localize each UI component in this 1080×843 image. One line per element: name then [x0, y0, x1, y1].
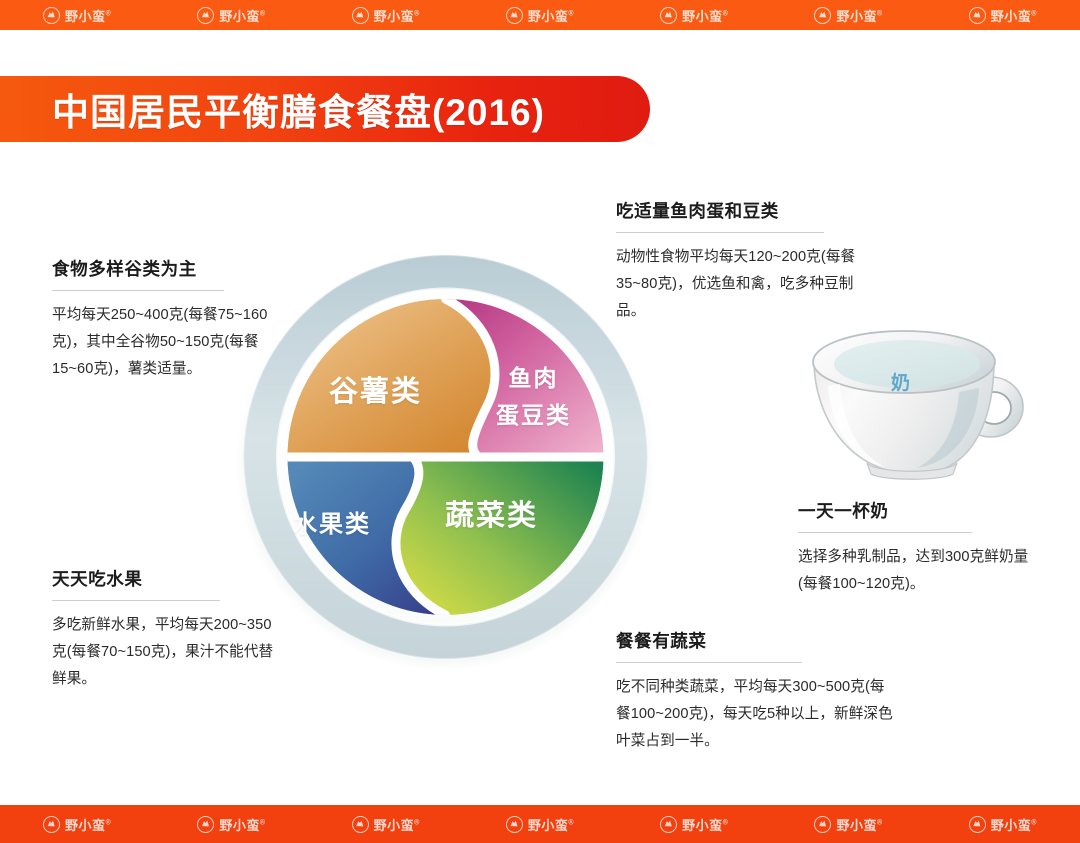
callout-milk-divider [798, 532, 972, 533]
bottom-watermark-bar: 野小蛮®野小蛮®野小蛮®野小蛮®野小蛮®野小蛮®野小蛮® [0, 805, 1080, 843]
callout-grain-divider [52, 290, 224, 291]
brand-logo-icon [352, 816, 369, 833]
cup-milk-surface [834, 340, 980, 388]
watermark-brand-text: 野小蛮® [991, 6, 1037, 25]
callout-milk-heading: 一天一杯奶 [798, 498, 1038, 523]
callout-vegetables-body: 吃不同种类蔬菜，平均每天300~500克(每餐100~200克)，每天吃5种以上… [616, 674, 894, 755]
watermark-item: 野小蛮® [926, 815, 1080, 834]
watermark-brand-text: 野小蛮® [219, 815, 265, 834]
brand-logo-icon [969, 7, 986, 24]
watermark-item: 野小蛮® [309, 815, 463, 834]
watermark-brand-text: 野小蛮® [682, 6, 728, 25]
callout-milk-body: 选择多种乳制品，达到300克鲜奶量(每餐100~120克)。 [798, 544, 1038, 598]
watermark-item: 野小蛮® [0, 815, 154, 834]
watermark-brand-text: 野小蛮® [65, 815, 111, 834]
watermark-brand-text: 野小蛮® [682, 815, 728, 834]
watermark-brand-text: 野小蛮® [991, 815, 1037, 834]
watermark-item: 野小蛮® [309, 6, 463, 25]
watermark-item: 野小蛮® [154, 815, 308, 834]
milk-cup-svg [795, 322, 1040, 494]
infographic-page: 野小蛮®野小蛮®野小蛮®野小蛮®野小蛮®野小蛮®野小蛮® 中国居民平衡膳食餐盘(… [0, 0, 1080, 843]
brand-logo-icon [814, 7, 831, 24]
watermark-item: 野小蛮® [463, 6, 617, 25]
watermark-brand-text: 野小蛮® [528, 815, 574, 834]
watermark-brand-text: 野小蛮® [528, 6, 574, 25]
watermark-item: 野小蛮® [617, 6, 771, 25]
watermark-item: 野小蛮® [154, 6, 308, 25]
callout-protein-divider [616, 232, 824, 233]
brand-logo-icon [814, 816, 831, 833]
watermark-brand-text: 野小蛮® [219, 6, 265, 25]
brand-logo-icon [660, 7, 677, 24]
callout-protein-heading: 吃适量鱼肉蛋和豆类 [616, 198, 878, 223]
callout-fruit-divider [52, 600, 220, 601]
brand-logo-icon [660, 816, 677, 833]
brand-logo-icon [197, 816, 214, 833]
brand-logo-icon [352, 7, 369, 24]
watermark-item: 野小蛮® [463, 815, 617, 834]
milk-cup-illustration: 奶 [795, 322, 1040, 494]
watermark-brand-text: 野小蛮® [836, 815, 882, 834]
watermark-item: 野小蛮® [617, 815, 771, 834]
page-title: 中国居民平衡膳食餐盘(2016) [52, 82, 545, 136]
watermark-item: 野小蛮® [771, 6, 925, 25]
watermark-brand-text: 野小蛮® [836, 6, 882, 25]
watermark-item: 野小蛮® [771, 815, 925, 834]
brand-logo-icon [43, 816, 60, 833]
brand-logo-icon [506, 7, 523, 24]
callout-milk: 一天一杯奶 选择多种乳制品，达到300克鲜奶量(每餐100~120克)。 [798, 498, 1038, 598]
balanced-diet-plate: 谷薯类 鱼肉 蛋豆类 蔬菜类 水果类 [233, 252, 658, 677]
watermark-item: 野小蛮® [926, 6, 1080, 25]
plate-svg [233, 252, 658, 677]
brand-logo-icon [197, 7, 214, 24]
watermark-brand-text: 野小蛮® [65, 6, 111, 25]
watermark-item: 野小蛮® [0, 6, 154, 25]
brand-logo-icon [969, 816, 986, 833]
watermark-brand-text: 野小蛮® [374, 6, 420, 25]
watermark-brand-text: 野小蛮® [374, 815, 420, 834]
title-banner: 中国居民平衡膳食餐盘(2016) [0, 76, 650, 142]
brand-logo-icon [43, 7, 60, 24]
top-watermark-bar: 野小蛮®野小蛮®野小蛮®野小蛮®野小蛮®野小蛮®野小蛮® [0, 0, 1080, 30]
brand-logo-icon [506, 816, 523, 833]
